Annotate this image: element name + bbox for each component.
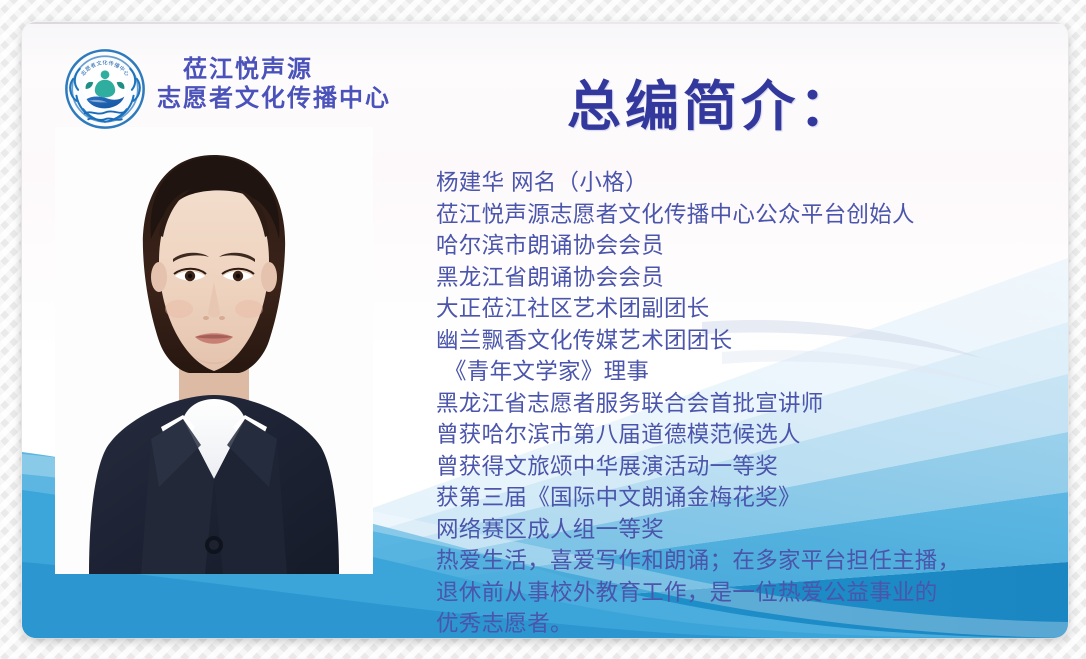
- bio-line: 莅江悦声源志愿者文化传播中心公众平台创始人: [436, 199, 1056, 231]
- bio-line: 退休前从事校外教育工作，是一位热爱公益事业的: [436, 577, 1056, 609]
- bio-line: 热爱生活，喜爱写作和朗诵；在多家平台担任主播，: [436, 545, 1056, 577]
- page-title: 总编简介：: [567, 62, 857, 141]
- biography-text: 杨建华 网名（小格） 莅江悦声源志愿者文化传播中心公众平台创始人 哈尔滨市朗诵协…: [436, 167, 1056, 638]
- card-top-edge: [22, 22, 1068, 24]
- organization-name: 莅江悦声源 志愿者文化传播中心: [157, 55, 391, 114]
- organization-name-line1: 莅江悦声源: [157, 55, 391, 84]
- bio-line: 获第三届《国际中文朗诵金梅花奖》: [436, 482, 1056, 514]
- slide-canvas: 志愿者文化传播中心 莅江悦声源 志愿者文化传播中心 总编简介： 杨建华 网名: [0, 0, 1086, 659]
- slide-card: 志愿者文化传播中心 莅江悦声源 志愿者文化传播中心 总编简介： 杨建华 网名: [22, 22, 1068, 638]
- bio-line: 《青年文学家》理事: [436, 356, 1056, 388]
- bio-line: 黑龙江省朗诵协会会员: [436, 262, 1056, 294]
- bio-line: 优秀志愿者。: [436, 608, 1056, 638]
- bio-line: 大正莅江社区艺术团副团长: [436, 293, 1056, 325]
- organization-name-line2: 志愿者文化传播中心: [157, 84, 391, 113]
- portrait-photo: [55, 127, 373, 574]
- bio-line: 网络赛区成人组一等奖: [436, 514, 1056, 546]
- bio-line: 杨建华 网名（小格）: [436, 167, 1056, 199]
- organization-logo-icon: 志愿者文化传播中心: [63, 47, 147, 131]
- bio-line: 曾获得文旅颂中华展演活动一等奖: [436, 451, 1056, 483]
- portrait-photo-image: [55, 127, 373, 574]
- bio-line: 曾获哈尔滨市第八届道德模范候选人: [436, 419, 1056, 451]
- bio-line: 黑龙江省志愿者服务联合会首批宣讲师: [436, 388, 1056, 420]
- bio-line: 幽兰飘香文化传媒艺术团团长: [436, 325, 1056, 357]
- bio-line: 哈尔滨市朗诵协会会员: [436, 230, 1056, 262]
